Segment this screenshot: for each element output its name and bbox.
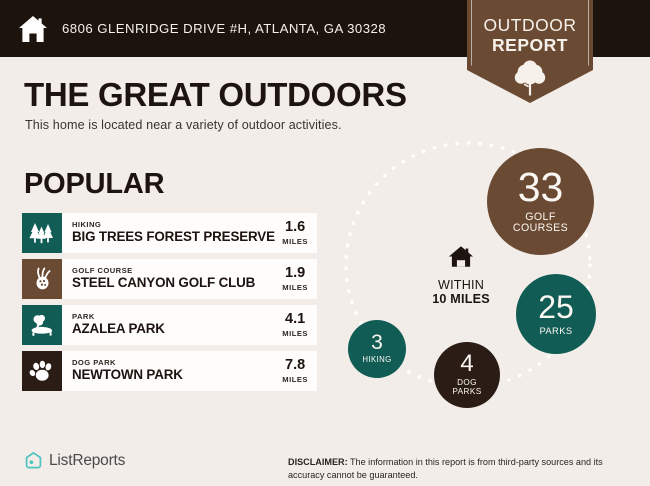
- diagram-center: WITHIN 10 MILES: [406, 245, 516, 307]
- list-item-distance: 7.8 MILES: [282, 358, 317, 384]
- stat-circle-hiking: 3 HIKING: [348, 320, 406, 378]
- home-icon: [18, 15, 48, 43]
- home-icon: [448, 245, 474, 273]
- list-item-name: STEEL CANYON GOLF CLUB: [72, 276, 282, 290]
- popular-list: HIKING BIG TREES FOREST PRESERVE 1.6 MIL…: [22, 213, 317, 397]
- distance-value: 1.6: [282, 220, 308, 235]
- page-subtitle: This home is located near a variety of o…: [25, 118, 342, 132]
- stat-label: GOLF COURSES: [513, 212, 568, 235]
- stat-count: 4: [460, 353, 473, 376]
- list-item-category: GOLF COURSE: [72, 267, 282, 275]
- distance-value: 7.8: [282, 358, 308, 373]
- list-item-category: HIKING: [72, 221, 282, 229]
- badge-line-1: OUTDOOR: [467, 17, 593, 35]
- stat-count: 33: [518, 168, 564, 207]
- disclaimer-label: DISCLAIMER:: [288, 457, 348, 467]
- disclaimer: DISCLAIMER: The information in this repo…: [288, 456, 640, 481]
- stat-circle-parks: 25 PARKS: [516, 274, 596, 354]
- tree-icon: [513, 60, 547, 101]
- stat-count: 25: [538, 292, 574, 322]
- list-item-icon-tile: [22, 305, 62, 345]
- stat-label: HIKING: [362, 356, 391, 364]
- stat-count: 3: [371, 333, 383, 353]
- golf-icon: [29, 266, 55, 292]
- badge-line-2: REPORT: [467, 37, 593, 55]
- popular-heading: POPULAR: [24, 168, 164, 201]
- list-item-category: DOG PARK: [72, 359, 282, 367]
- distance-unit: MILES: [282, 375, 308, 384]
- center-line-1: WITHIN: [438, 278, 484, 292]
- distance-unit: MILES: [282, 283, 308, 292]
- list-item-name: BIG TREES FOREST PRESERVE: [72, 230, 282, 244]
- listreports-house-icon: [24, 451, 43, 470]
- list-item-distance: 1.9 MILES: [282, 266, 317, 292]
- property-address: 6806 GLENRIDGE DRIVE #H, ATLANTA, GA 303…: [62, 21, 386, 36]
- list-item-category: PARK: [72, 313, 282, 321]
- list-item[interactable]: PARK AZALEA PARK 4.1 MILES: [22, 305, 317, 345]
- distance-value: 1.9: [282, 266, 308, 281]
- paw-icon: [29, 359, 55, 383]
- list-item[interactable]: GOLF COURSE STEEL CANYON GOLF CLUB 1.9 M…: [22, 259, 317, 299]
- footer: ListReports DISCLAIMER: The information …: [0, 442, 650, 486]
- stat-circle-golf-courses: 33 GOLF COURSES: [487, 148, 594, 255]
- stat-label: PARKS: [539, 326, 572, 336]
- stat-circle-dog-parks: 4 DOG PARKS: [434, 342, 500, 408]
- outdoor-report-badge: OUTDOOR REPORT: [467, 0, 593, 103]
- list-item-name: AZALEA PARK: [72, 322, 282, 336]
- listreports-logo[interactable]: ListReports: [24, 451, 125, 470]
- outdoor-counts-diagram: WITHIN 10 MILES 33 GOLF COURSES 25 PARKS…: [330, 140, 650, 440]
- distance-unit: MILES: [282, 237, 308, 246]
- center-line-2: 10 MILES: [432, 292, 490, 306]
- distance-value: 4.1: [282, 312, 308, 327]
- distance-unit: MILES: [282, 329, 308, 338]
- list-item-distance: 4.1 MILES: [282, 312, 317, 338]
- list-item-icon-tile: [22, 213, 62, 253]
- trees-icon: [28, 221, 56, 245]
- list-item-icon-tile: [22, 351, 62, 391]
- listreports-logo-text: ListReports: [49, 452, 125, 470]
- list-item[interactable]: DOG PARK NEWTOWN PARK 7.8 MILES: [22, 351, 317, 391]
- list-item-distance: 1.6 MILES: [282, 220, 317, 246]
- page-title: THE GREAT OUTDOORS: [24, 76, 407, 114]
- stat-label: DOG PARKS: [452, 379, 481, 397]
- list-item[interactable]: HIKING BIG TREES FOREST PRESERVE 1.6 MIL…: [22, 213, 317, 253]
- park-bench-icon: [28, 313, 56, 337]
- list-item-name: NEWTOWN PARK: [72, 368, 282, 382]
- list-item-icon-tile: [22, 259, 62, 299]
